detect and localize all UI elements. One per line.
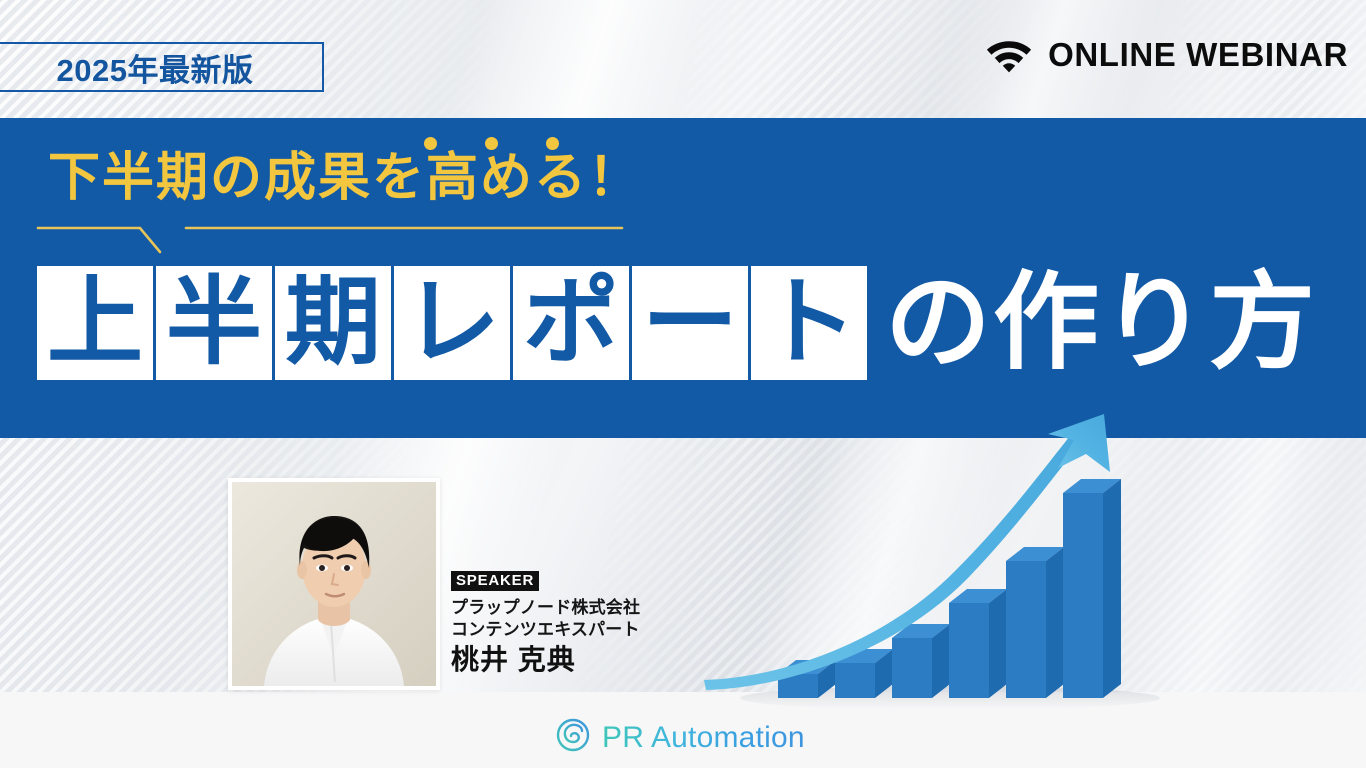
webinar-poster: 2025年最新版 ONLINE WEBINAR 下半期の成果を高める！ 上 半 … <box>0 0 1366 768</box>
emphasis-dot <box>546 137 559 150</box>
title-tile: 期 <box>275 266 391 380</box>
title-tile: レ <box>394 266 510 380</box>
year-badge-label: 2025年最新版 <box>57 45 254 90</box>
bar-6 <box>1063 479 1121 698</box>
title-tile: 半 <box>156 266 272 380</box>
hero-title-tail: の作り方 <box>885 266 1317 380</box>
title-tile: 上 <box>37 266 153 380</box>
hero-subtitle: 下半期の成果を高める！ <box>48 152 642 204</box>
speaker-name: 桃井 克典 <box>451 644 751 676</box>
bar-3 <box>892 624 950 698</box>
online-webinar-group: ONLINE WEBINAR <box>986 36 1348 74</box>
emphasis-dot <box>485 137 498 150</box>
title-tile: ポ <box>513 266 629 380</box>
bar-5 <box>1006 547 1064 698</box>
speaker-info: SPEAKER プラップノード株式会社 コンテンツエキスパート 桃井 克典 <box>451 571 751 676</box>
spiral-icon <box>556 718 590 757</box>
speaker-portrait <box>232 482 436 686</box>
online-webinar-label: ONLINE WEBINAR <box>1048 36 1348 74</box>
emphasis-dots <box>424 137 559 150</box>
title-tile: ト <box>751 266 867 380</box>
speaker-tag: SPEAKER <box>451 571 539 591</box>
speaker-role: コンテンツエキスパート <box>451 619 751 641</box>
wifi-icon <box>986 37 1032 73</box>
growth-bar-chart <box>700 398 1160 728</box>
subtitle-underline-decoration <box>36 222 626 262</box>
hero-title-tiles: 上 半 期 レ ポ ー ト <box>37 266 867 380</box>
year-badge: 2025年最新版 <box>0 42 324 92</box>
logo-wordmark: PR Automation <box>602 721 805 755</box>
emphasis-dot <box>424 137 437 150</box>
title-tile: ー <box>632 266 748 380</box>
speaker-photo-frame <box>228 478 440 690</box>
speaker-company: プラップノード株式会社 <box>451 597 751 619</box>
bar-4 <box>949 589 1007 698</box>
pr-automation-logo: PR Automation <box>556 718 805 757</box>
